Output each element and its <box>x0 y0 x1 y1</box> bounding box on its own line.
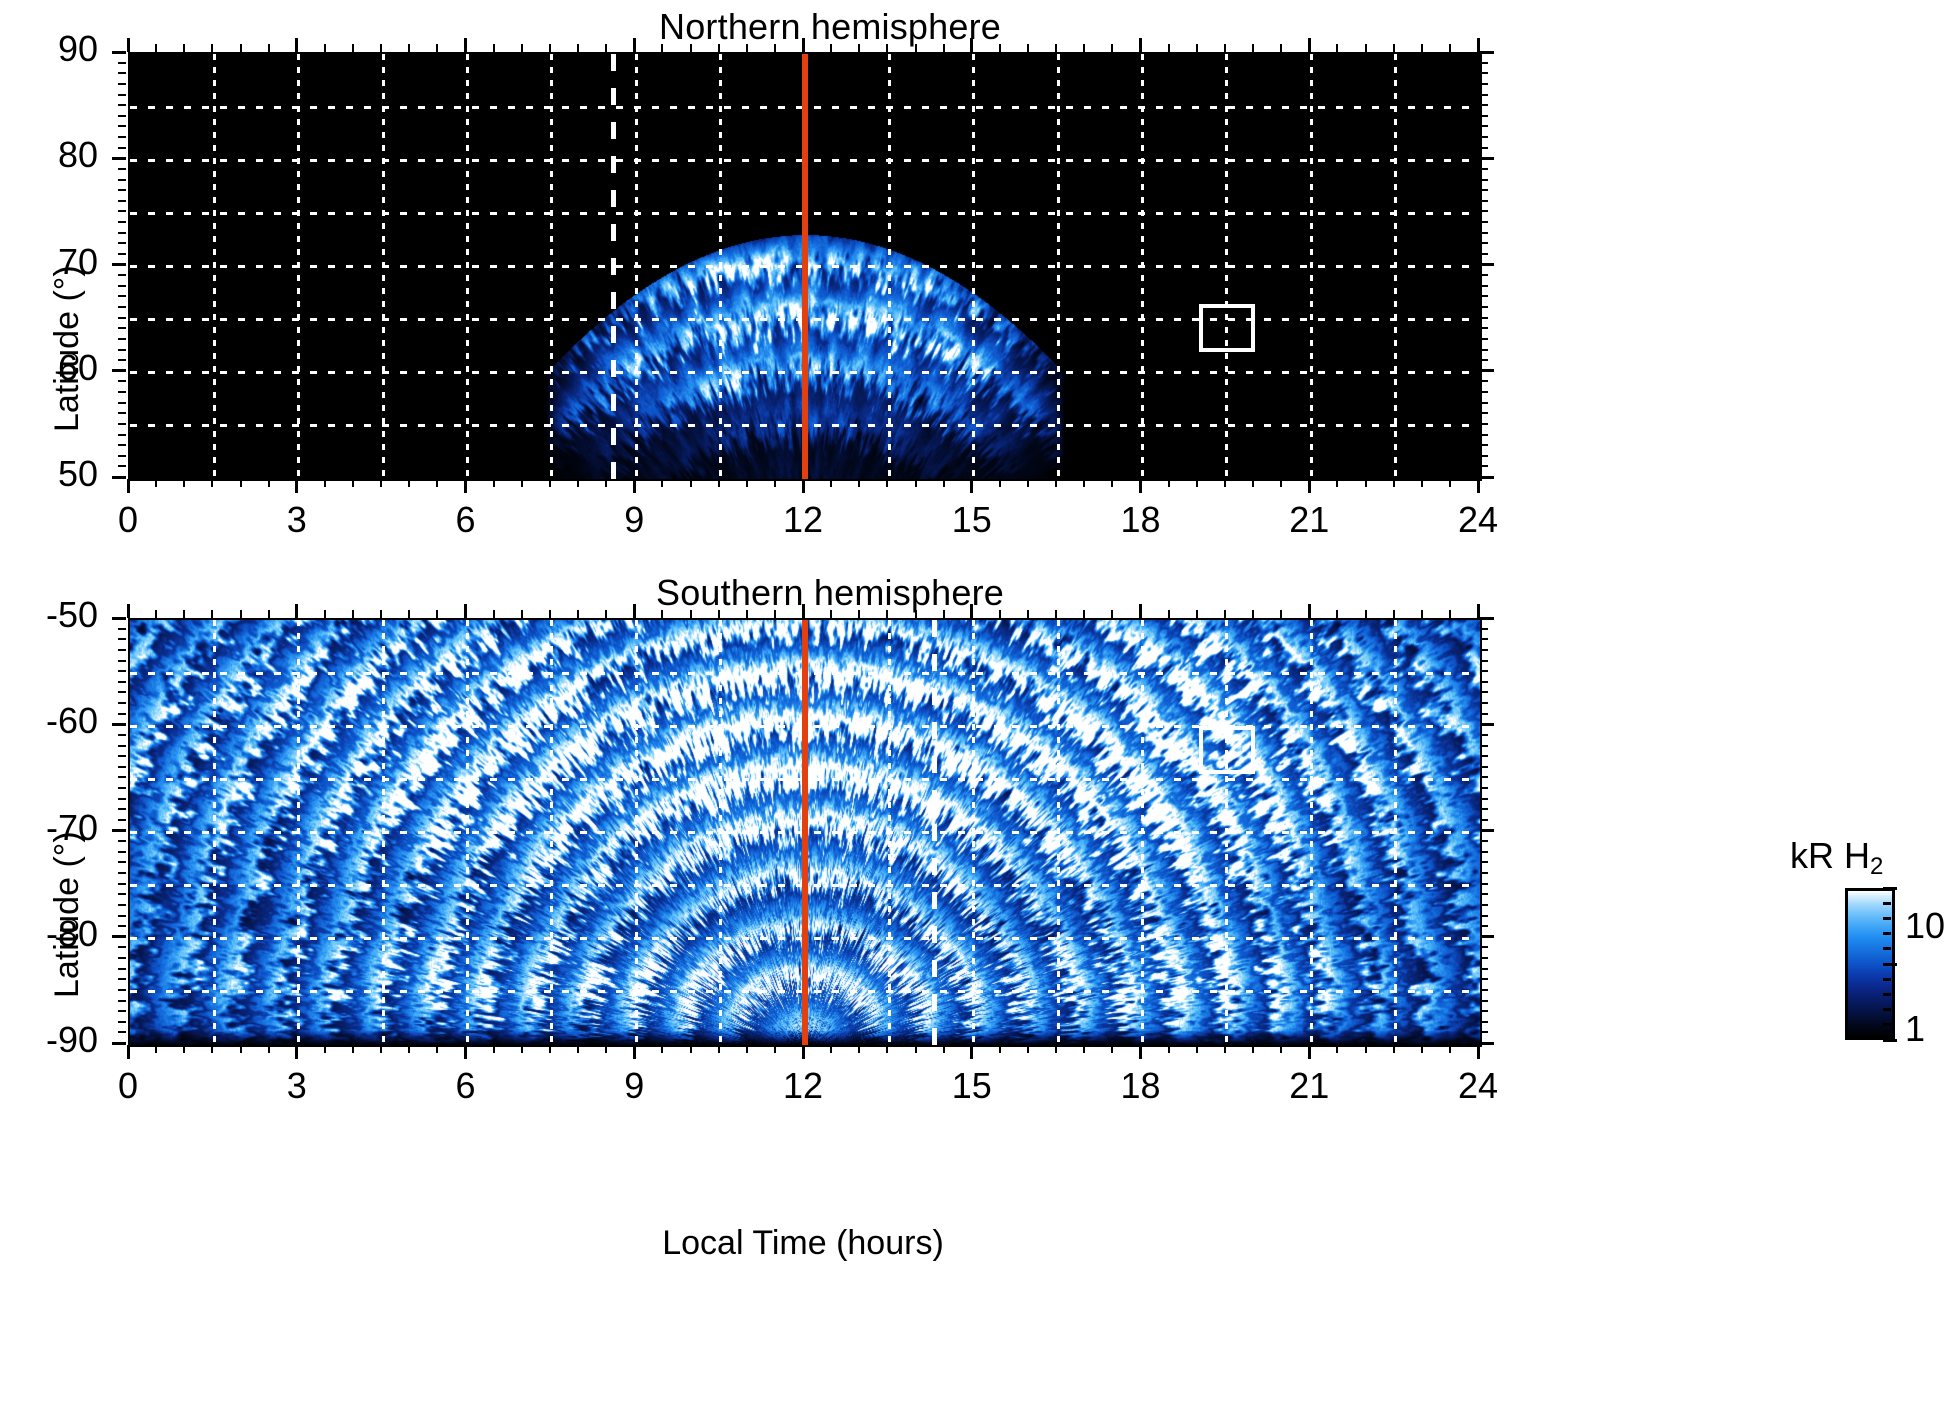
xtick-top-southern-6 <box>464 604 467 618</box>
ytick-minor-southern--73 <box>118 861 126 863</box>
xtick-top-northern-21 <box>1308 38 1311 52</box>
xtick-minor-top-southern-0.5 <box>155 610 157 618</box>
xtick-minor-top-northern-22 <box>1365 44 1367 52</box>
ytick-right-northern-60 <box>1480 369 1494 372</box>
ytick-right-southern--70 <box>1480 829 1494 832</box>
ytick-minor-right-northern-77 <box>1480 189 1488 191</box>
xtick-minor-northern-20.5 <box>1280 479 1282 487</box>
ytick-minor-southern--53 <box>118 649 126 651</box>
xtick-minor-top-northern-8.5 <box>605 44 607 52</box>
ytick-minor-right-northern-71 <box>1480 253 1488 255</box>
xtick-minor-top-southern-1 <box>183 610 185 618</box>
xtick-minor-southern-7.5 <box>549 1045 551 1053</box>
xtick-top-northern-3 <box>295 38 298 52</box>
xtick-minor-southern-3.5 <box>324 1045 326 1053</box>
xtick-top-northern-12 <box>802 38 805 52</box>
ytick-minor-northern-85 <box>118 104 126 106</box>
xtick-minor-top-southern-11.5 <box>774 610 776 618</box>
xtick-minor-northern-23 <box>1421 479 1423 487</box>
southern-panel-title: Southern hemisphere <box>150 572 1510 614</box>
xtick-southern-24 <box>1477 1045 1480 1059</box>
ytick-minor-right-northern-64 <box>1480 327 1488 329</box>
xtick-minor-northern-7 <box>521 479 523 487</box>
ytick-minor-right-northern-88 <box>1480 72 1488 74</box>
ytick-right-southern--90 <box>1480 1042 1494 1045</box>
xtick-minor-top-northern-14 <box>915 44 917 52</box>
ytick-minor-right-southern--84 <box>1480 978 1488 980</box>
ytick-northern-60 <box>112 369 126 372</box>
xtick-minor-top-northern-10.5 <box>718 44 720 52</box>
xtick-minor-northern-23.5 <box>1449 479 1451 487</box>
colorbar-tick-5 <box>1883 963 1897 966</box>
ytick-minor-northern-87 <box>118 83 126 85</box>
ytick-minor-right-southern--55 <box>1480 670 1488 672</box>
ytick-minor-southern--82 <box>118 957 126 959</box>
xtick-minor-northern-4.5 <box>380 479 382 487</box>
xtick-minor-southern-22 <box>1365 1045 1367 1053</box>
xtick-minor-southern-5.5 <box>436 1045 438 1053</box>
xtick-minor-southern-7 <box>521 1045 523 1053</box>
ytick-minor-right-northern-65 <box>1480 317 1488 319</box>
xtick-minor-southern-1.5 <box>211 1045 213 1053</box>
ytick-southern--60 <box>112 723 126 726</box>
ytick-minor-northern-53 <box>118 444 126 446</box>
ytick-minor-northern-56 <box>118 412 126 414</box>
xtick-minor-southern-13 <box>858 1045 860 1053</box>
ytick-minor-northern-71 <box>118 253 126 255</box>
xtick-minor-southern-2.5 <box>268 1045 270 1053</box>
ytick-minor-right-northern-72 <box>1480 242 1488 244</box>
ytick-minor-northern-64 <box>118 327 126 329</box>
xtick-minor-top-northern-7.5 <box>549 44 551 52</box>
ytick-minor-right-southern--61 <box>1480 734 1488 736</box>
xtick-minor-southern-20.5 <box>1280 1045 1282 1053</box>
ytick-minor-southern--85 <box>118 989 126 991</box>
xtick-minor-northern-22 <box>1365 479 1367 487</box>
xtick-minor-southern-15.5 <box>999 1045 1001 1053</box>
xticklabel-southern-6: 6 <box>406 1065 526 1107</box>
ytick-minor-northern-77 <box>118 189 126 191</box>
xtick-minor-top-northern-18.5 <box>1168 44 1170 52</box>
xtick-minor-top-southern-16 <box>1027 610 1029 618</box>
xtick-minor-top-southern-20 <box>1252 610 1254 618</box>
ytick-minor-right-southern--79 <box>1480 925 1488 927</box>
ytick-minor-right-northern-73 <box>1480 232 1488 234</box>
xtick-minor-northern-10 <box>690 479 692 487</box>
ytick-minor-southern--88 <box>118 1021 126 1023</box>
ytick-right-northern-90 <box>1480 51 1494 54</box>
ytick-minor-right-northern-75 <box>1480 210 1488 212</box>
xtick-minor-top-northern-11 <box>746 44 748 52</box>
ytick-right-northern-80 <box>1480 157 1494 160</box>
colorbar-title: kR H2 <box>1790 835 1883 881</box>
ytick-minor-southern--67 <box>118 798 126 800</box>
ytick-minor-southern--76 <box>118 893 126 895</box>
xtick-southern-21 <box>1308 1045 1311 1059</box>
colorbar-tick-7 <box>1883 993 1891 996</box>
xtick-minor-southern-18.5 <box>1168 1045 1170 1053</box>
ytick-minor-right-northern-74 <box>1480 221 1488 223</box>
xtick-minor-top-northern-16 <box>1027 44 1029 52</box>
xtick-minor-top-southern-17 <box>1083 610 1085 618</box>
ytick-minor-right-northern-57 <box>1480 402 1488 404</box>
xtick-minor-top-northern-17.5 <box>1111 44 1113 52</box>
ytick-minor-right-southern--81 <box>1480 946 1488 948</box>
xtick-minor-northern-14 <box>915 479 917 487</box>
ytick-minor-southern--89 <box>118 1031 126 1033</box>
xtick-minor-top-northern-20.5 <box>1280 44 1282 52</box>
colorbar-tick-1 <box>1883 902 1891 905</box>
xtick-minor-southern-4 <box>352 1045 354 1053</box>
xtick-minor-southern-0.5 <box>155 1045 157 1053</box>
ytick-minor-northern-67 <box>118 295 126 297</box>
xtick-southern-6 <box>464 1045 467 1059</box>
xtick-minor-southern-10.5 <box>718 1045 720 1053</box>
xtick-top-southern-9 <box>633 604 636 618</box>
ytick-minor-right-southern--69 <box>1480 819 1488 821</box>
ytick-minor-southern--74 <box>118 872 126 874</box>
xtick-minor-top-northern-4.5 <box>380 44 382 52</box>
xtick-minor-top-northern-5 <box>408 44 410 52</box>
ytick-minor-right-northern-58 <box>1480 391 1488 393</box>
xtick-minor-top-southern-23.5 <box>1449 610 1451 618</box>
region-of-interest-box-northern[interactable] <box>1199 304 1255 352</box>
ytick-minor-right-southern--89 <box>1480 1031 1488 1033</box>
xtick-minor-top-southern-2.5 <box>268 610 270 618</box>
ytick-minor-right-southern--88 <box>1480 1021 1488 1023</box>
terminator-dashed-line-northern <box>611 54 616 479</box>
xtick-top-southern-3 <box>295 604 298 618</box>
ytick-minor-northern-55 <box>118 423 126 425</box>
xtick-minor-southern-4.5 <box>380 1045 382 1053</box>
colorbar-tick-label-10: 10 <box>1905 905 1945 947</box>
xtick-minor-top-southern-14.5 <box>943 610 945 618</box>
ytick-minor-southern--58 <box>118 702 126 704</box>
xtick-minor-top-southern-10.5 <box>718 610 720 618</box>
ytick-minor-right-southern--82 <box>1480 957 1488 959</box>
yticklabel-southern--70: -70 <box>0 807 98 849</box>
ytick-minor-northern-63 <box>118 338 126 340</box>
xtick-minor-top-southern-4 <box>352 610 354 618</box>
ytick-minor-northern-82 <box>118 136 126 138</box>
ytick-minor-southern--54 <box>118 660 126 662</box>
xtick-minor-top-southern-5 <box>408 610 410 618</box>
xtick-minor-top-northern-14.5 <box>943 44 945 52</box>
northern-panel-title: Northern hemisphere <box>150 6 1510 48</box>
ytick-minor-right-northern-52 <box>1480 455 1488 457</box>
xtick-minor-top-northern-17 <box>1083 44 1085 52</box>
xtick-northern-6 <box>464 479 467 493</box>
xtick-minor-southern-8 <box>577 1045 579 1053</box>
yticklabel-northern-70: 70 <box>0 241 98 283</box>
xtick-minor-northern-1.5 <box>211 479 213 487</box>
ytick-minor-northern-73 <box>118 232 126 234</box>
ytick-right-southern--60 <box>1480 723 1494 726</box>
colorbar-tick-3 <box>1883 932 1891 935</box>
xtick-minor-northern-19 <box>1196 479 1198 487</box>
ytick-minor-right-northern-62 <box>1480 349 1488 351</box>
xticklabel-northern-6: 6 <box>406 499 526 541</box>
ytick-minor-southern--65 <box>118 776 126 778</box>
ytick-minor-northern-81 <box>118 147 126 149</box>
xtick-minor-southern-2 <box>240 1045 242 1053</box>
xtick-minor-top-southern-8.5 <box>605 610 607 618</box>
xtick-southern-3 <box>295 1045 298 1059</box>
ytick-minor-right-southern--62 <box>1480 745 1488 747</box>
ytick-minor-northern-74 <box>118 221 126 223</box>
ytick-minor-southern--56 <box>118 681 126 683</box>
ytick-minor-southern--84 <box>118 978 126 980</box>
xtick-minor-southern-21.5 <box>1336 1045 1338 1053</box>
xtick-minor-southern-22.5 <box>1393 1045 1395 1053</box>
ytick-minor-right-southern--67 <box>1480 798 1488 800</box>
colorbar-tick-10 <box>1883 1039 1897 1042</box>
ytick-minor-northern-69 <box>118 274 126 276</box>
ytick-minor-right-northern-56 <box>1480 412 1488 414</box>
ytick-minor-right-northern-83 <box>1480 125 1488 127</box>
ytick-minor-right-southern--74 <box>1480 872 1488 874</box>
xtick-minor-top-southern-3.5 <box>324 610 326 618</box>
xtick-minor-southern-20 <box>1252 1045 1254 1053</box>
ytick-minor-southern--71 <box>118 840 126 842</box>
xtick-top-northern-15 <box>970 38 973 52</box>
ytick-minor-southern--81 <box>118 946 126 948</box>
ytick-minor-right-southern--68 <box>1480 808 1488 810</box>
ytick-minor-right-northern-68 <box>1480 285 1488 287</box>
xtick-top-northern-0 <box>127 38 130 52</box>
xtick-southern-12 <box>802 1045 805 1059</box>
xtick-minor-top-northern-2.5 <box>268 44 270 52</box>
ytick-southern--90 <box>112 1042 126 1045</box>
xticklabel-southern-0: 0 <box>68 1065 188 1107</box>
xtick-minor-top-southern-16.5 <box>1055 610 1057 618</box>
xtick-minor-southern-19 <box>1196 1045 1198 1053</box>
southern-xaxis-label: Local Time (hours) <box>128 1224 1478 1263</box>
ytick-minor-right-northern-86 <box>1480 94 1488 96</box>
ytick-minor-right-southern--59 <box>1480 713 1488 715</box>
xtick-minor-northern-8.5 <box>605 479 607 487</box>
xtick-minor-top-northern-16.5 <box>1055 44 1057 52</box>
ytick-minor-right-northern-78 <box>1480 179 1488 181</box>
xtick-minor-northern-12.5 <box>830 479 832 487</box>
colorbar-tick-9 <box>1883 1023 1891 1026</box>
ytick-minor-right-southern--76 <box>1480 893 1488 895</box>
xtick-minor-top-southern-6.5 <box>493 610 495 618</box>
ytick-minor-right-northern-85 <box>1480 104 1488 106</box>
ytick-minor-southern--63 <box>118 755 126 757</box>
xtick-minor-top-southern-17.5 <box>1111 610 1113 618</box>
yticklabel-southern--60: -60 <box>0 700 98 742</box>
xtick-northern-0 <box>127 479 130 493</box>
xtick-minor-northern-15.5 <box>999 479 1001 487</box>
ytick-minor-right-northern-51 <box>1480 465 1488 467</box>
ytick-minor-northern-72 <box>118 242 126 244</box>
xticklabel-northern-21: 21 <box>1249 499 1369 541</box>
ytick-minor-southern--75 <box>118 883 126 885</box>
yticklabel-southern--80: -80 <box>0 913 98 955</box>
xtick-minor-top-southern-15.5 <box>999 610 1001 618</box>
ytick-northern-90 <box>112 51 126 54</box>
xtick-minor-top-southern-18.5 <box>1168 610 1170 618</box>
xtick-top-northern-6 <box>464 38 467 52</box>
xtick-minor-top-northern-0.5 <box>155 44 157 52</box>
ytick-minor-northern-86 <box>118 94 126 96</box>
xtick-minor-top-southern-2 <box>240 610 242 618</box>
ytick-minor-right-southern--52 <box>1480 638 1488 640</box>
ytick-minor-southern--66 <box>118 787 126 789</box>
xticklabel-northern-0: 0 <box>68 499 188 541</box>
xtick-minor-top-southern-13 <box>858 610 860 618</box>
ytick-northern-50 <box>112 476 126 479</box>
xticklabel-northern-12: 12 <box>743 499 863 541</box>
ytick-minor-northern-84 <box>118 115 126 117</box>
ytick-right-southern--50 <box>1480 617 1494 620</box>
xtick-minor-northern-2 <box>240 479 242 487</box>
ytick-minor-northern-59 <box>118 380 126 382</box>
ytick-minor-right-southern--57 <box>1480 691 1488 693</box>
ytick-minor-right-southern--56 <box>1480 681 1488 683</box>
xtick-minor-southern-17 <box>1083 1045 1085 1053</box>
xtick-minor-northern-5 <box>408 479 410 487</box>
ytick-minor-right-southern--66 <box>1480 787 1488 789</box>
southern-plot-area[interactable] <box>128 618 1482 1047</box>
xtick-minor-southern-9.5 <box>661 1045 663 1053</box>
ytick-minor-northern-75 <box>118 210 126 212</box>
ytick-minor-southern--79 <box>118 925 126 927</box>
ytick-minor-southern--62 <box>118 745 126 747</box>
xticklabel-northern-24: 24 <box>1418 499 1538 541</box>
ytick-minor-right-northern-79 <box>1480 168 1488 170</box>
xtick-minor-northern-21.5 <box>1336 479 1338 487</box>
xtick-minor-top-southern-19 <box>1196 610 1198 618</box>
xtick-minor-northern-19.5 <box>1224 479 1226 487</box>
xticklabel-southern-24: 24 <box>1418 1065 1538 1107</box>
yticklabel-southern--90: -90 <box>0 1019 98 1061</box>
xtick-southern-15 <box>970 1045 973 1059</box>
ytick-minor-northern-83 <box>118 125 126 127</box>
xtick-southern-0 <box>127 1045 130 1059</box>
ytick-minor-southern--87 <box>118 1010 126 1012</box>
noon-meridian-line-southern <box>802 620 808 1045</box>
xtick-minor-top-northern-2 <box>240 44 242 52</box>
xtick-minor-top-northern-20 <box>1252 44 1254 52</box>
yticklabel-northern-80: 80 <box>0 134 98 176</box>
ytick-right-northern-50 <box>1480 476 1494 479</box>
xtick-top-southern-0 <box>127 604 130 618</box>
ytick-minor-right-southern--86 <box>1480 1000 1488 1002</box>
ytick-minor-right-northern-81 <box>1480 147 1488 149</box>
ytick-minor-right-northern-67 <box>1480 295 1488 297</box>
ytick-minor-southern--72 <box>118 851 126 853</box>
xticklabel-southern-12: 12 <box>743 1065 863 1107</box>
xtick-minor-northern-17 <box>1083 479 1085 487</box>
ytick-minor-right-northern-82 <box>1480 136 1488 138</box>
xtick-minor-top-northern-22.5 <box>1393 44 1395 52</box>
ytick-minor-right-northern-54 <box>1480 434 1488 436</box>
xtick-minor-northern-8 <box>577 479 579 487</box>
ytick-minor-northern-54 <box>118 434 126 436</box>
ytick-minor-right-northern-76 <box>1480 200 1488 202</box>
xtick-minor-northern-0.5 <box>155 479 157 487</box>
xtick-minor-top-southern-8 <box>577 610 579 618</box>
xtick-minor-southern-13.5 <box>886 1045 888 1053</box>
terminator-dashed-line-southern <box>932 620 937 1045</box>
ytick-minor-right-southern--72 <box>1480 851 1488 853</box>
xtick-minor-northern-13.5 <box>886 479 888 487</box>
xticklabel-southern-18: 18 <box>1081 1065 1201 1107</box>
ytick-minor-right-northern-89 <box>1480 62 1488 64</box>
ytick-minor-southern--57 <box>118 691 126 693</box>
xtick-minor-northern-11 <box>746 479 748 487</box>
ytick-minor-right-southern--58 <box>1480 702 1488 704</box>
xtick-minor-top-southern-19.5 <box>1224 610 1226 618</box>
ytick-southern--80 <box>112 935 126 938</box>
xticklabel-northern-9: 9 <box>574 499 694 541</box>
xtick-minor-top-northern-11.5 <box>774 44 776 52</box>
xtick-minor-top-northern-1 <box>183 44 185 52</box>
ytick-minor-right-southern--54 <box>1480 660 1488 662</box>
ytick-minor-right-southern--71 <box>1480 840 1488 842</box>
ytick-minor-southern--69 <box>118 819 126 821</box>
ytick-minor-northern-58 <box>118 391 126 393</box>
xtick-minor-top-northern-19.5 <box>1224 44 1226 52</box>
ytick-minor-northern-57 <box>118 402 126 404</box>
ytick-minor-southern--59 <box>118 713 126 715</box>
xtick-minor-southern-8.5 <box>605 1045 607 1053</box>
ytick-minor-right-southern--83 <box>1480 968 1488 970</box>
xtick-minor-southern-23.5 <box>1449 1045 1451 1053</box>
xtick-minor-top-southern-7 <box>521 610 523 618</box>
xticklabel-southern-3: 3 <box>237 1065 357 1107</box>
xtick-minor-top-northern-13.5 <box>886 44 888 52</box>
xtick-minor-northern-20 <box>1252 479 1254 487</box>
northern-plot-area[interactable] <box>128 52 1482 481</box>
xtick-minor-top-northern-4 <box>352 44 354 52</box>
xtick-minor-northern-18.5 <box>1168 479 1170 487</box>
xtick-minor-top-southern-1.5 <box>211 610 213 618</box>
xtick-minor-top-southern-4.5 <box>380 610 382 618</box>
xtick-minor-northern-2.5 <box>268 479 270 487</box>
ytick-minor-southern--52 <box>118 638 126 640</box>
ytick-minor-northern-61 <box>118 359 126 361</box>
xtick-minor-southern-12.5 <box>830 1045 832 1053</box>
colorbar-tick-label-1: 1 <box>1905 1008 1925 1050</box>
xtick-northern-12 <box>802 479 805 493</box>
xtick-minor-southern-16.5 <box>1055 1045 1057 1053</box>
xtick-minor-northern-17.5 <box>1111 479 1113 487</box>
xtick-minor-northern-7.5 <box>549 479 551 487</box>
xtick-minor-top-northern-7 <box>521 44 523 52</box>
xtick-minor-southern-6.5 <box>493 1045 495 1053</box>
region-of-interest-box-southern[interactable] <box>1199 726 1255 774</box>
xtick-minor-southern-14.5 <box>943 1045 945 1053</box>
ytick-minor-right-northern-63 <box>1480 338 1488 340</box>
ytick-minor-southern--83 <box>118 968 126 970</box>
xtick-minor-southern-14 <box>915 1045 917 1053</box>
yticklabel-northern-60: 60 <box>0 347 98 389</box>
xtick-minor-top-southern-12.5 <box>830 610 832 618</box>
xtick-minor-top-northern-10 <box>690 44 692 52</box>
xtick-minor-northern-6.5 <box>493 479 495 487</box>
ytick-minor-northern-66 <box>118 306 126 308</box>
colorbar-tick-8 <box>1883 1008 1891 1011</box>
xtick-top-southern-18 <box>1139 604 1142 618</box>
xtick-minor-northern-5.5 <box>436 479 438 487</box>
ytick-minor-northern-88 <box>118 72 126 74</box>
xtick-minor-southern-10 <box>690 1045 692 1053</box>
ytick-right-northern-70 <box>1480 263 1494 266</box>
xtick-minor-top-northern-5.5 <box>436 44 438 52</box>
